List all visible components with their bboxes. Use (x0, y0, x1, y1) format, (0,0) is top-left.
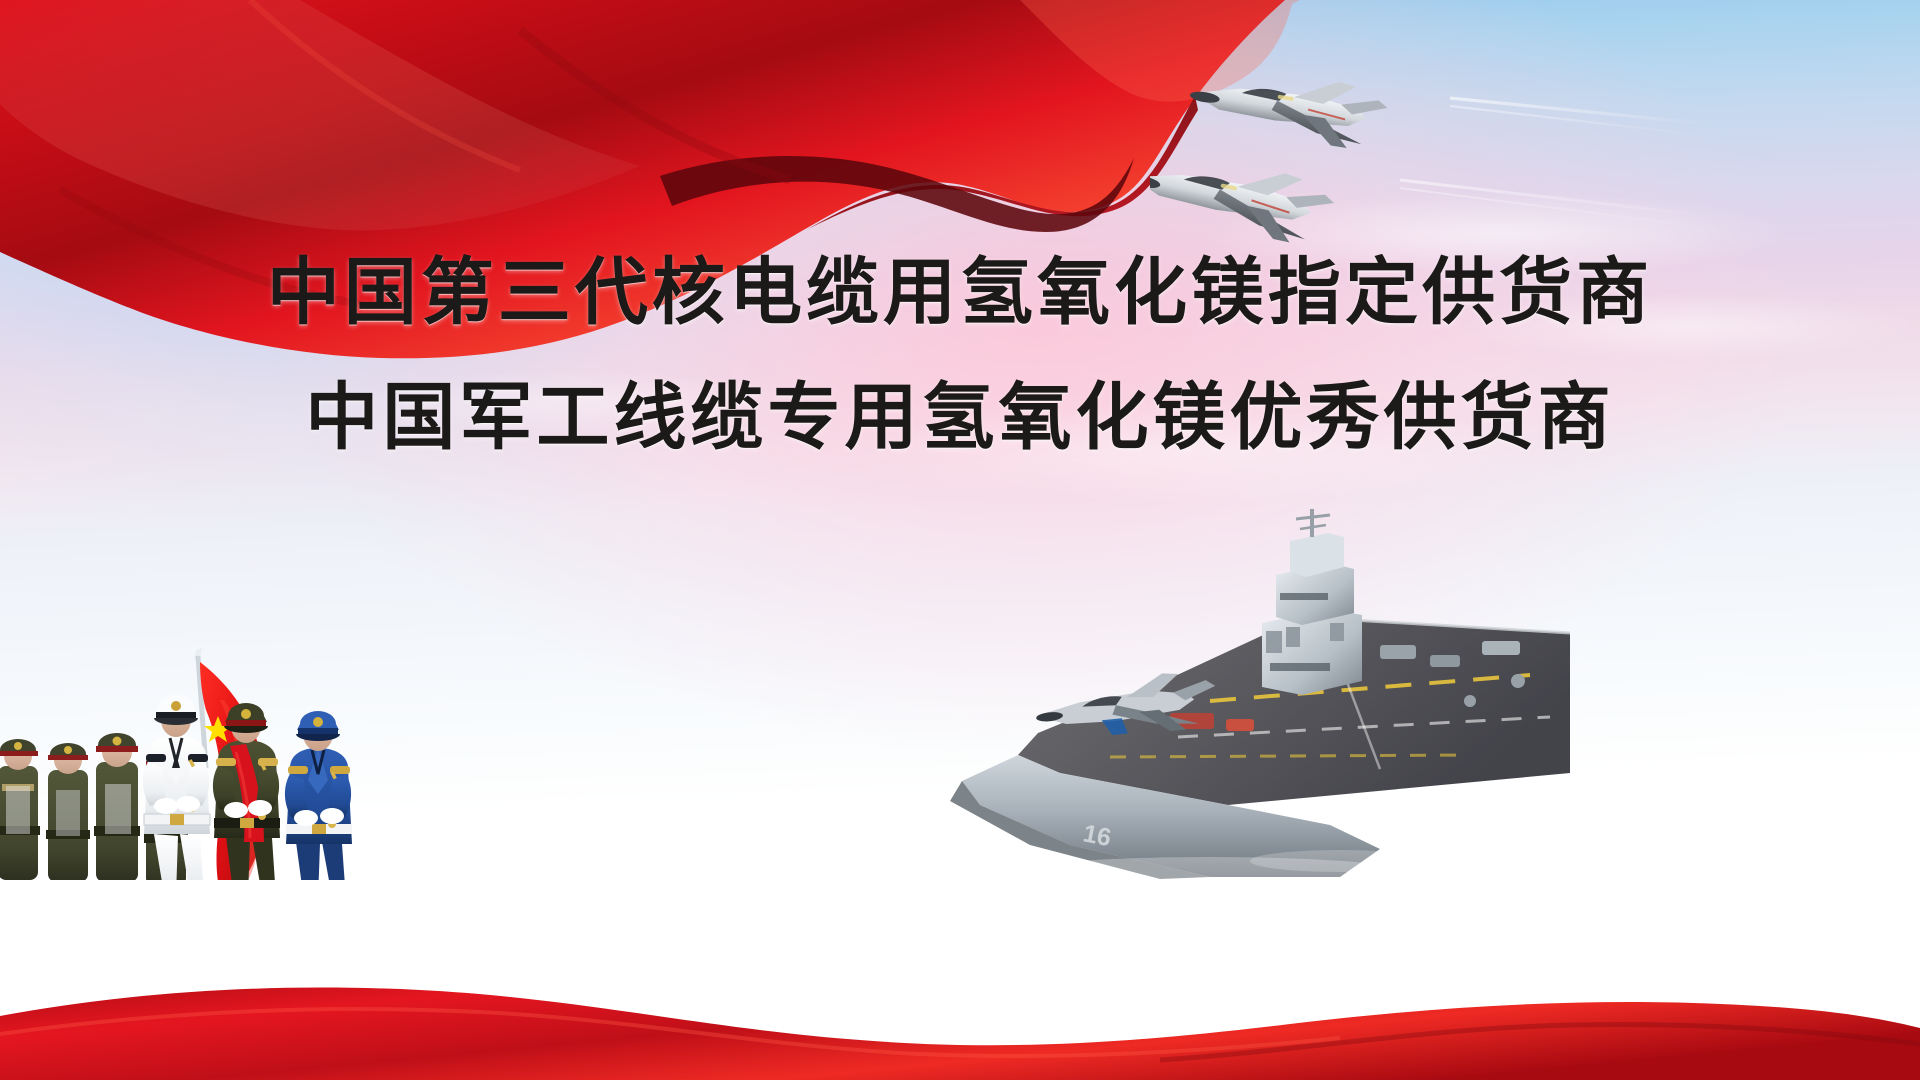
headline-block: 中国第三代核电缆用氢氧化镁指定供货商 中国军工线缆专用氢氧化镁优秀供货商 (0, 246, 1920, 466)
headline-secondary: 中国军工线缆专用氢氧化镁优秀供货商 (0, 371, 1920, 466)
fighter-jets (1150, 20, 1710, 250)
honor-guard (0, 520, 410, 880)
promotional-banner: 16 (0, 0, 1920, 1080)
aircraft-carrier: 16 (910, 505, 1570, 880)
svg-text:16: 16 (1081, 819, 1114, 852)
headline-primary: 中国第三代核电缆用氢氧化镁指定供货商 (0, 246, 1920, 341)
bottom-red-ribbon (0, 960, 1920, 1080)
